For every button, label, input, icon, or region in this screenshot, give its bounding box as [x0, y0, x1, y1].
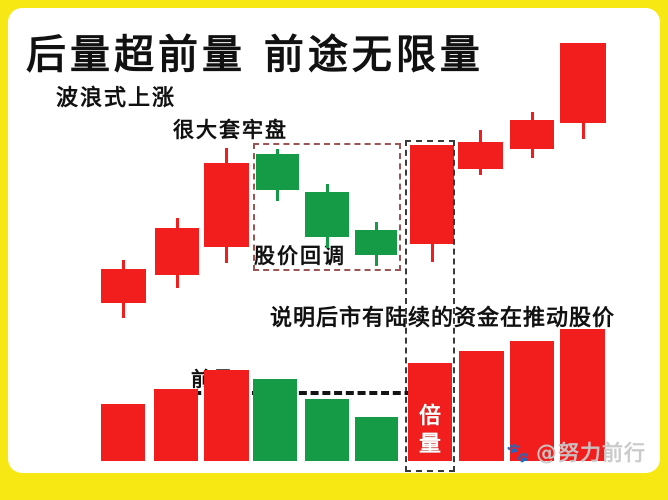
volume-bar-5: [305, 399, 349, 461]
candle-body-9: [510, 120, 554, 149]
volume-bar-2: [154, 389, 198, 461]
annotation-trapped: 很大套牢盘: [173, 114, 288, 144]
candle-2: [155, 218, 199, 288]
candle-3: [204, 148, 249, 263]
candle-8: [458, 130, 503, 175]
candle-1: [101, 260, 146, 318]
candle-body-3: [204, 163, 249, 247]
volume-bar-6: [355, 417, 398, 461]
candle-body-2: [155, 228, 199, 275]
double-volume-label: 倍 量: [411, 367, 449, 459]
watermark-handle: @努力前行: [536, 437, 646, 467]
volume-bar-3: [204, 370, 249, 461]
candle-9: [510, 112, 554, 158]
poster-frame: 后量超前量 前途无限量 波浪式上涨 很大套牢盘 股价回调 说明后市有陆续的资金在…: [0, 0, 668, 500]
pullback-box: [253, 143, 401, 271]
double-volume-char-1: 倍: [411, 403, 449, 431]
candle-body-10: [560, 43, 606, 123]
volume-bar-1: [101, 404, 145, 461]
candle-10: [560, 43, 606, 139]
volume-bar-8: [459, 351, 504, 461]
candle-body-8: [458, 142, 503, 169]
double-volume-char-2: 量: [411, 431, 449, 459]
annotation-wave-up: 波浪式上涨: [56, 80, 176, 112]
watermark: 🐾 @努力前行: [506, 437, 646, 467]
candle-body-1: [101, 269, 146, 303]
page-title: 后量超前量 前途无限量: [26, 22, 484, 80]
paw-icon: 🐾: [506, 441, 531, 464]
chart-canvas: 后量超前量 前途无限量 波浪式上涨 很大套牢盘 股价回调 说明后市有陆续的资金在…: [8, 8, 660, 473]
volume-bar-4: [253, 379, 297, 461]
